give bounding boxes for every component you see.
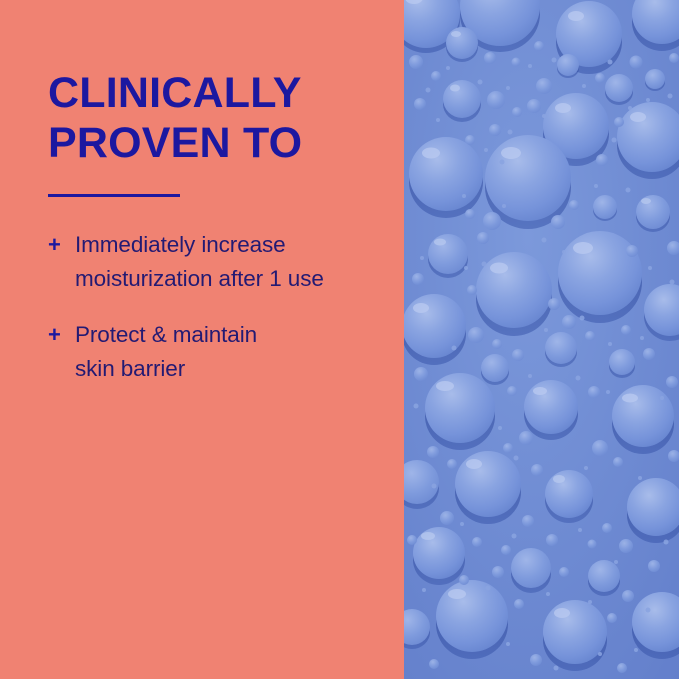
plus-icon: +: [48, 228, 75, 262]
water-droplet-image: [404, 0, 679, 679]
plus-icon: +: [48, 318, 75, 352]
divider: [48, 194, 180, 197]
list-item: + Immediately increase moisturization af…: [48, 228, 393, 296]
benefits-list: + Immediately increase moisturization af…: [48, 228, 393, 408]
list-item: + Protect & maintain skin barrier: [48, 318, 393, 386]
copy-panel: CLINICALLY PROVEN TO + Immediately incre…: [0, 0, 404, 679]
list-item-label: Immediately increase moisturization afte…: [75, 228, 324, 296]
list-item-label: Protect & maintain skin barrier: [75, 318, 257, 386]
droplet-texture-icon: [404, 0, 679, 679]
page-title: CLINICALLY PROVEN TO: [48, 68, 388, 168]
promo-graphic: CLINICALLY PROVEN TO + Immediately incre…: [0, 0, 679, 679]
